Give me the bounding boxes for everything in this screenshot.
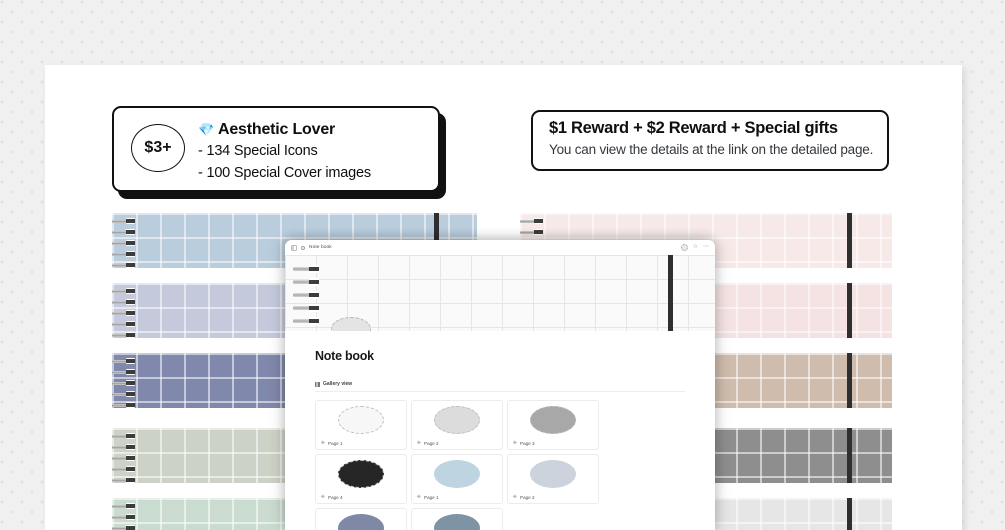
spiral-ring xyxy=(293,315,323,328)
promo-right-title: $1 Reward + $2 Reward + Special gifts xyxy=(549,119,838,138)
more-options-icon[interactable]: ⋯ xyxy=(703,244,709,251)
cover-oval-shape xyxy=(434,406,480,434)
spiral-ring xyxy=(112,359,138,363)
gallery-card-label-text: Page 2 xyxy=(424,441,439,446)
promo-left-line-2: - 100 Special Cover images xyxy=(198,162,430,184)
spiral-ring xyxy=(293,289,323,302)
spiral-ring xyxy=(112,263,138,267)
spiral-ring xyxy=(112,322,138,326)
spiral-ring xyxy=(520,219,546,223)
page-icon: ✤ xyxy=(321,441,326,446)
promo-left-title: Aesthetic Lover xyxy=(218,120,335,140)
spiral-ring xyxy=(112,219,138,223)
page-icon: ✤ xyxy=(417,441,422,446)
page-icon xyxy=(301,246,305,250)
gallery-card-thumbnail xyxy=(412,509,502,530)
page-title[interactable]: Note book xyxy=(315,349,685,363)
gallery-card[interactable]: ✤Page 2 xyxy=(507,454,599,504)
cover-oval-shape xyxy=(338,406,384,434)
cover-elastic-strap xyxy=(847,213,852,268)
gallery-card[interactable]: ✤Page 1 xyxy=(411,454,503,504)
spiral-ring xyxy=(112,300,138,304)
page-icon: ✤ xyxy=(321,495,326,500)
cover-oval-shape xyxy=(338,460,384,488)
spiral-ring xyxy=(112,504,138,508)
cover-spiral-binding xyxy=(112,353,138,408)
gallery-card-thumbnail xyxy=(508,455,598,492)
promo-card-aesthetic-lover[interactable]: $3+ 💎 Aesthetic Lover - 134 Special Icon… xyxy=(112,106,440,192)
tab-gallery-view[interactable]: Gallery view xyxy=(315,381,685,392)
spiral-ring xyxy=(112,456,138,460)
gem-icon: 💎 xyxy=(198,120,214,140)
cover-elastic-strap xyxy=(847,353,852,408)
promo-left-line-1: - 134 Special Icons xyxy=(198,140,430,162)
gear-icon[interactable] xyxy=(681,244,688,251)
spiral-ring xyxy=(112,403,138,407)
gallery-card-thumbnail xyxy=(316,401,406,438)
window-title: Note book xyxy=(309,245,332,250)
gallery-card-label: ✤Page 2 xyxy=(513,495,535,500)
gallery-grid: ✤Page 1✤Page 2✤Page 3✤Page 4✤Page 1✤Page… xyxy=(315,400,685,530)
promo-right-subtitle: You can view the details at the link on … xyxy=(549,142,873,157)
gallery-card-label: ✤Page 4 xyxy=(321,495,343,500)
cover-spiral-binding xyxy=(112,498,138,530)
tab-gallery-view-label: Gallery view xyxy=(323,381,352,387)
spiral-ring xyxy=(293,276,323,289)
spiral-ring xyxy=(112,467,138,471)
spiral-ring xyxy=(112,311,138,315)
cover-oval-shape xyxy=(530,406,576,434)
promo-left-body: 💎 Aesthetic Lover - 134 Special Icons - … xyxy=(198,120,430,184)
gallery-card[interactable]: ✤Page 4 xyxy=(411,508,503,530)
promo-left-title-row: 💎 Aesthetic Lover xyxy=(198,120,430,140)
gallery-card-thumbnail xyxy=(316,509,406,530)
spiral-ring xyxy=(112,230,138,234)
page-icon: ✤ xyxy=(513,441,518,446)
spiral-ring xyxy=(112,526,138,530)
gallery-view-icon xyxy=(315,382,320,387)
spiral-ring xyxy=(112,381,138,385)
price-badge: $3+ xyxy=(131,124,185,172)
spiral-ring xyxy=(520,230,546,234)
gallery-card-label: ✤Page 1 xyxy=(417,495,439,500)
cover-elastic-strap xyxy=(668,255,673,331)
cover-oval-shape xyxy=(338,514,384,530)
gallery-card-label-text: Page 2 xyxy=(520,495,535,500)
spiral-ring xyxy=(293,302,323,315)
cover-spiral-binding xyxy=(112,283,138,338)
notebook-app-window[interactable]: Note book ☆ ⋯ Note book Gallery view ✤Pa… xyxy=(285,240,715,530)
cover-oval-shape xyxy=(434,460,480,488)
gallery-card[interactable]: ✤Page 4 xyxy=(315,454,407,504)
window-body: Note book Gallery view ✤Page 1✤Page 2✤Pa… xyxy=(285,349,715,530)
spiral-ring xyxy=(112,434,138,438)
cover-spiral-binding xyxy=(112,213,138,268)
cover-elastic-strap xyxy=(847,498,852,530)
gallery-card-label-text: Page 3 xyxy=(520,441,535,446)
star-icon[interactable]: ☆ xyxy=(693,244,698,251)
spiral-ring xyxy=(112,445,138,449)
spiral-ring xyxy=(112,478,138,482)
gallery-card-thumbnail xyxy=(412,455,502,492)
spiral-ring xyxy=(112,333,138,337)
gallery-card-label: ✤Page 2 xyxy=(417,441,439,446)
promo-card-rewards[interactable]: $1 Reward + $2 Reward + Special gifts Yo… xyxy=(531,110,889,171)
cover-oval-shape xyxy=(530,460,576,488)
gallery-card-thumbnail xyxy=(412,401,502,438)
gallery-card-thumbnail xyxy=(316,455,406,492)
spiral-ring xyxy=(112,515,138,519)
spiral-ring xyxy=(112,370,138,374)
spiral-ring xyxy=(112,289,138,293)
spiral-ring xyxy=(112,241,138,245)
window-cover-image xyxy=(285,255,715,331)
gallery-card-label: ✤Page 1 xyxy=(321,441,343,446)
sidebar-toggle-icon[interactable] xyxy=(291,245,297,251)
cover-oval-shape xyxy=(434,514,480,530)
gallery-card[interactable]: ✤Page 3 xyxy=(315,508,407,530)
page-icon: ✤ xyxy=(417,495,422,500)
price-badge-label: $3+ xyxy=(144,139,171,157)
cover-spiral-binding xyxy=(112,428,138,483)
cover-spiral-binding xyxy=(293,263,323,328)
gallery-card[interactable]: ✤Page 2 xyxy=(411,400,503,450)
gallery-card-label-text: Page 1 xyxy=(328,441,343,446)
page-icon: ✤ xyxy=(513,495,518,500)
gallery-card-thumbnail xyxy=(508,401,598,438)
gallery-card-label-text: Page 4 xyxy=(328,495,343,500)
gallery-card[interactable]: ✤Page 1 xyxy=(315,400,407,450)
spiral-ring xyxy=(112,392,138,396)
window-topbar-actions: ☆ ⋯ xyxy=(681,244,709,251)
gallery-card-label: ✤Page 3 xyxy=(513,441,535,446)
cover-elastic-strap xyxy=(847,283,852,338)
gallery-card[interactable]: ✤Page 3 xyxy=(507,400,599,450)
spiral-ring xyxy=(112,252,138,256)
cover-elastic-strap xyxy=(847,428,852,483)
spiral-ring xyxy=(293,263,323,276)
window-topbar: Note book ☆ ⋯ xyxy=(285,240,715,255)
gallery-card-label-text: Page 1 xyxy=(424,495,439,500)
